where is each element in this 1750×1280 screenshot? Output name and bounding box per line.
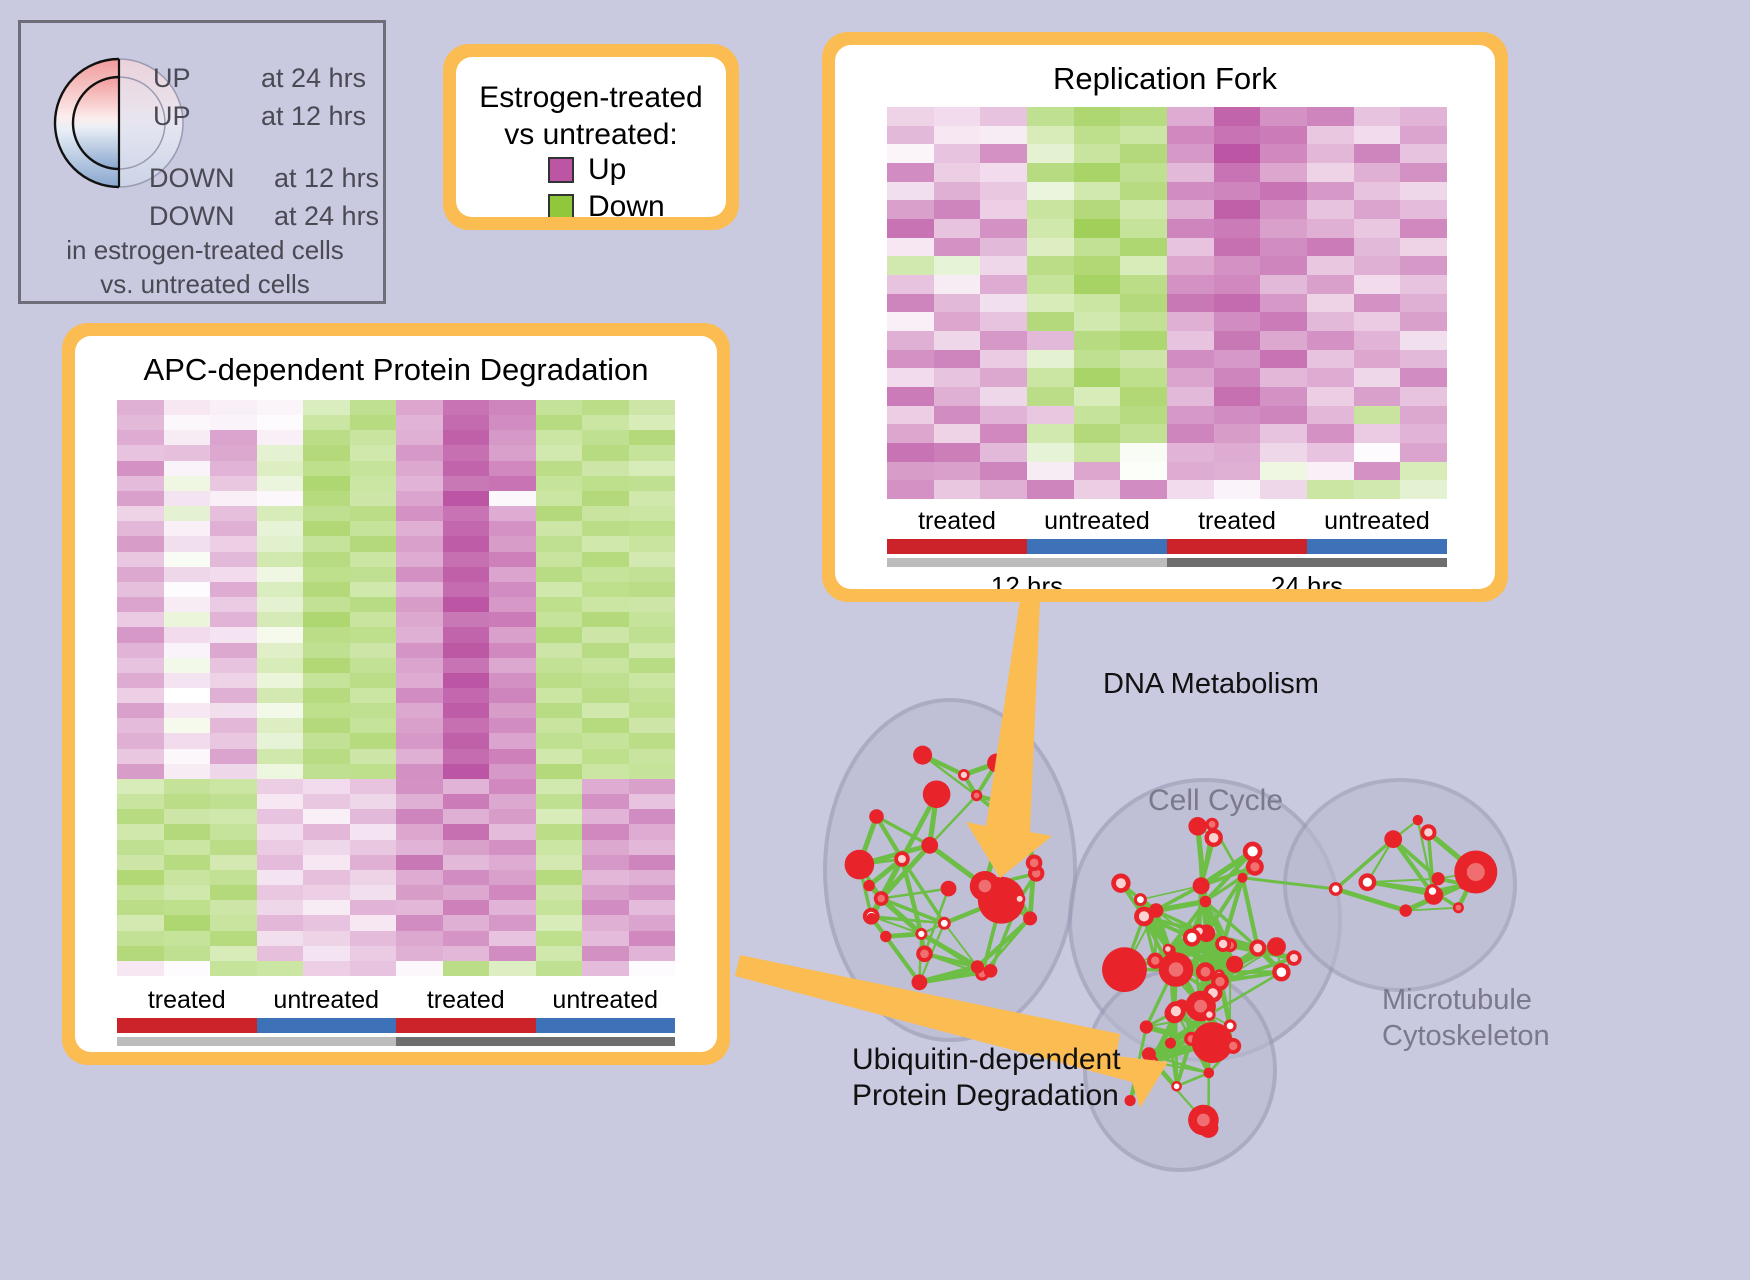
heatmap-cell (117, 567, 164, 582)
heatmap-cell (1167, 126, 1214, 145)
heatmap-cell (536, 612, 583, 627)
heatmap-cell (1074, 443, 1121, 462)
key-ring-time-up-24: at 24 hrs (261, 63, 366, 94)
heatmap-cell (536, 536, 583, 551)
heatmap-cell (1400, 219, 1447, 238)
heatmap-cell (164, 476, 211, 491)
heatmap-cell (1260, 182, 1307, 201)
heatmap-cell (489, 627, 536, 642)
heatmap-cell (980, 256, 1027, 275)
heatmap-cell (117, 506, 164, 521)
heatmap-cell (629, 567, 676, 582)
heatmap-cell (1260, 312, 1307, 331)
heatmap-cell (1307, 107, 1354, 126)
axis-group-bar (257, 1018, 397, 1033)
network-node (913, 746, 932, 765)
heatmap-cell (350, 961, 397, 976)
heatmap-cell (1027, 294, 1074, 313)
heatmap-cell (1260, 126, 1307, 145)
heatmap-cell (257, 536, 304, 551)
axis-group-label: untreated (257, 986, 397, 1015)
network-node-core (1139, 911, 1149, 921)
axis-group-bar (1027, 539, 1167, 554)
heatmap-cell (536, 900, 583, 915)
heatmap-cell (1354, 200, 1401, 219)
network-node (1193, 877, 1210, 894)
heatmap-cell (350, 870, 397, 885)
heatmap-cell (1214, 443, 1261, 462)
heatmap-cell (536, 627, 583, 642)
heatmap-cell (257, 749, 304, 764)
network-node-core (1169, 962, 1184, 977)
heatmap-cell (1354, 219, 1401, 238)
heatmap-cell (350, 506, 397, 521)
heatmap-cell (934, 480, 981, 499)
heatmap-cell (164, 673, 211, 688)
color-key-caption-line1: in estrogen-treated cells (21, 233, 389, 267)
heatmap-cell (396, 567, 443, 582)
heatmap-cell (629, 840, 676, 855)
heatmap-cell (1167, 275, 1214, 294)
heatmap-cell (350, 915, 397, 930)
axis-time-label: 12 hrs (887, 571, 1167, 589)
heatmap-cell (536, 779, 583, 794)
cluster-label-dna-metabolism: DNA Metabolism (1103, 666, 1319, 702)
heatmap-cell (489, 506, 536, 521)
heatmap-cell (536, 430, 583, 445)
legend-swatch-up (548, 157, 574, 183)
axis-time-label: 24 hrs (1167, 571, 1447, 589)
heatmap-cell (582, 946, 629, 961)
heatmap-cell (582, 643, 629, 658)
heatmap-cell (210, 506, 257, 521)
heatmap-cell (934, 443, 981, 462)
heatmap-cell (934, 144, 981, 163)
heatmap-cell (257, 885, 304, 900)
heatmap-cell (117, 673, 164, 688)
heatmap-cell (350, 733, 397, 748)
heatmap-cell (1074, 238, 1121, 257)
heatmap-cell (210, 688, 257, 703)
heatmap-cell (582, 688, 629, 703)
heatmap-cell (257, 521, 304, 536)
heatmap-cell (1400, 480, 1447, 499)
heatmap-cell (117, 643, 164, 658)
heatmap-cell (1074, 424, 1121, 443)
network-node-core (1201, 967, 1211, 977)
heatmap-cell (489, 870, 536, 885)
network-node-core (961, 772, 967, 778)
heatmap-cell (210, 552, 257, 567)
network-node-core (1456, 905, 1462, 911)
heatmap-cell (1400, 368, 1447, 387)
heatmap-cell (164, 931, 211, 946)
key-ring-label-down-12: DOWN (149, 163, 234, 194)
heatmap-cell (210, 718, 257, 733)
heatmap-cell (303, 961, 350, 976)
network-node-core (1290, 954, 1298, 962)
heatmap-cell (443, 491, 490, 506)
axis-group-label: untreated (1027, 507, 1167, 536)
heatmap-cell (934, 312, 981, 331)
heatmap-cell (303, 643, 350, 658)
heatmap-cell (164, 855, 211, 870)
heatmap-cell (1307, 182, 1354, 201)
legend-title: Estrogen-treated vs untreated: (456, 79, 726, 153)
heatmap-cell (1027, 368, 1074, 387)
network-node-core (1165, 946, 1170, 951)
heatmap-cell (536, 733, 583, 748)
axis-time-label: 12 hrs (117, 1050, 396, 1052)
heatmap-cell (350, 445, 397, 460)
heatmap-cell (980, 350, 1027, 369)
network-node-core (1187, 933, 1196, 942)
heatmap-cell (257, 461, 304, 476)
heatmap-cell (117, 764, 164, 779)
heatmap-cell (1167, 462, 1214, 481)
heatmap-cell (1214, 480, 1261, 499)
heatmap-cell (1167, 312, 1214, 331)
heatmap-cell (210, 491, 257, 506)
heatmap-cell (117, 733, 164, 748)
heatmap-cell (117, 946, 164, 961)
heatmap-cell (350, 809, 397, 824)
network-node-core (1424, 828, 1432, 836)
heatmap-cell (1074, 480, 1121, 499)
heatmap-cell (629, 703, 676, 718)
heatmap-cell (396, 627, 443, 642)
heatmap-cell (887, 256, 934, 275)
heatmap-cell (396, 400, 443, 415)
heatmap-cell (396, 415, 443, 430)
heatmap-cell (350, 779, 397, 794)
network-node (1142, 1047, 1156, 1061)
heatmap-cell (1027, 350, 1074, 369)
legend-title-line2: vs untreated: (456, 116, 726, 153)
heatmap-cell (1307, 294, 1354, 313)
heatmap-cell (164, 400, 211, 415)
heatmap-cell (887, 406, 934, 425)
heatmap-cell (582, 461, 629, 476)
heatmap-cell (629, 855, 676, 870)
heatmap-cell (350, 552, 397, 567)
heatmap-cell (1260, 219, 1307, 238)
heatmap-cell (303, 855, 350, 870)
heatmap-cell (629, 627, 676, 642)
heatmap-cell (117, 445, 164, 460)
heatmap-cell (629, 461, 676, 476)
heatmap-cell (1307, 219, 1354, 238)
heatmap-cell (1260, 163, 1307, 182)
heatmap-cell (629, 870, 676, 885)
heatmap-cell (980, 406, 1027, 425)
heatmap-cell (1120, 387, 1167, 406)
heatmap-cell (1307, 312, 1354, 331)
heatmap-cell (1027, 406, 1074, 425)
axis-group-label: untreated (1307, 507, 1447, 536)
heatmap-cell (1027, 126, 1074, 145)
heatmap-cell (489, 794, 536, 809)
heatmap-cell (582, 658, 629, 673)
heatmap-cell (1260, 406, 1307, 425)
heatmap-cell (887, 144, 934, 163)
heatmap-cell (489, 521, 536, 536)
heatmap-cell (303, 445, 350, 460)
heatmap-cell (980, 312, 1027, 331)
heatmap-cell (1354, 275, 1401, 294)
network-node (869, 809, 884, 824)
heatmap-cell (396, 552, 443, 567)
network-node-core (1209, 833, 1219, 843)
network-node (1226, 956, 1243, 973)
heatmap-cell (934, 163, 981, 182)
heatmap-cell (582, 536, 629, 551)
cluster-label-ubiquitin-protein-degradation: Ubiquitin-dependent Protein Degradation (852, 1042, 1121, 1114)
heatmap-cell (257, 824, 304, 839)
axis-group-bar (396, 1018, 536, 1033)
heatmap-cell (164, 794, 211, 809)
heatmap-cell (303, 840, 350, 855)
heatmap-cell (303, 552, 350, 567)
network-node (987, 754, 1006, 773)
heatmap-cell (257, 597, 304, 612)
legend-item-up: Up (548, 155, 626, 185)
heatmap-cell (164, 961, 211, 976)
heatmap-cell (1027, 182, 1074, 201)
heatmap-cell (257, 445, 304, 460)
heatmap-cell (257, 809, 304, 824)
heatmap-cell (303, 582, 350, 597)
heatmap-cell (443, 931, 490, 946)
heatmap-cell (887, 182, 934, 201)
heatmap-cell (1354, 480, 1401, 499)
heatmap-cell (164, 824, 211, 839)
heatmap-cell (303, 612, 350, 627)
heatmap-cell (489, 536, 536, 551)
heatmap-cell (210, 794, 257, 809)
heatmap-cell (629, 476, 676, 491)
heatmap-cell (1027, 387, 1074, 406)
heatmap-cell (536, 824, 583, 839)
heatmap-cell (257, 688, 304, 703)
axis-time-label: 24 hrs (396, 1050, 675, 1052)
heatmap-cell (1120, 107, 1167, 126)
heatmap-cell (117, 521, 164, 536)
heatmap-cell (117, 400, 164, 415)
heatmap-cell (582, 870, 629, 885)
heatmap-cell (1214, 163, 1261, 182)
legend-panel-inner: Estrogen-treated vs untreated: Up Down (456, 57, 726, 217)
heatmap-cell (303, 536, 350, 551)
heatmap-cell (887, 480, 934, 499)
heatmap-cell (396, 946, 443, 961)
heatmap-cell (443, 430, 490, 445)
network-node-core (1277, 967, 1287, 977)
heatmap-cell (582, 400, 629, 415)
heatmap-cell (489, 612, 536, 627)
heatmap-cell (303, 506, 350, 521)
replication-fork-time-bar (887, 558, 1447, 567)
heatmap-cell (934, 219, 981, 238)
heatmap-cell (1214, 275, 1261, 294)
heatmap-cell (980, 182, 1027, 201)
heatmap-cell (1400, 350, 1447, 369)
heatmap-cell (210, 824, 257, 839)
heatmap-cell (887, 107, 934, 126)
heatmap-cell (117, 627, 164, 642)
heatmap-cell (934, 462, 981, 481)
heatmap-cell (303, 900, 350, 915)
heatmap-cell (303, 718, 350, 733)
heatmap-cell (350, 749, 397, 764)
heatmap-cell (257, 415, 304, 430)
heatmap-cell (303, 415, 350, 430)
heatmap-cell (396, 749, 443, 764)
heatmap-cell (443, 915, 490, 930)
heatmap-cell (350, 400, 397, 415)
heatmap-cell (1214, 182, 1261, 201)
heatmap-cell (629, 673, 676, 688)
heatmap-cell (396, 612, 443, 627)
heatmap-cell (1027, 424, 1074, 443)
heatmap-cell (303, 931, 350, 946)
heatmap-cell (164, 445, 211, 460)
heatmap-cell (350, 491, 397, 506)
heatmap-cell (1167, 443, 1214, 462)
heatmap-cell (980, 275, 1027, 294)
heatmap-cell (1120, 331, 1167, 350)
heatmap-cell (1074, 406, 1121, 425)
heatmap-cell (1354, 406, 1401, 425)
network-node (867, 913, 877, 923)
heatmap-cell (887, 368, 934, 387)
heatmap-cell (396, 445, 443, 460)
heatmap-cell (629, 946, 676, 961)
network-node (1204, 1068, 1215, 1079)
heatmap-cell (1260, 480, 1307, 499)
heatmap-cell (582, 552, 629, 567)
heatmap-cell (257, 764, 304, 779)
heatmap-cell (1120, 126, 1167, 145)
heatmap-cell (629, 885, 676, 900)
heatmap-cell (582, 718, 629, 733)
heatmap-cell (396, 870, 443, 885)
heatmap-cell (443, 445, 490, 460)
heatmap-cell (1120, 256, 1167, 275)
heatmap-cell (536, 673, 583, 688)
heatmap-cell (582, 733, 629, 748)
legend-item-down: Down (548, 192, 665, 217)
heatmap-cell (443, 552, 490, 567)
heatmap-cell (443, 582, 490, 597)
apc-time-bar (117, 1037, 675, 1046)
axis-group-label: treated (117, 986, 257, 1015)
network-node-core (898, 855, 906, 863)
heatmap-cell (210, 627, 257, 642)
heatmap-cell (536, 415, 583, 430)
heatmap-cell (582, 673, 629, 688)
heatmap-cell (117, 809, 164, 824)
network-node-core (918, 931, 924, 937)
heatmap-cell (164, 536, 211, 551)
heatmap-cell (396, 688, 443, 703)
key-ring-label-down-24: DOWN (149, 201, 234, 232)
heatmap-cell (1400, 238, 1447, 257)
heatmap-cell (582, 764, 629, 779)
heatmap-cell (1400, 294, 1447, 313)
heatmap-cell (1027, 275, 1074, 294)
heatmap-cell (536, 476, 583, 491)
heatmap-cell (1354, 294, 1401, 313)
heatmap-cell (1027, 480, 1074, 499)
heatmap-cell (1027, 200, 1074, 219)
heatmap-cell (536, 552, 583, 567)
heatmap-cell (303, 476, 350, 491)
heatmap-cell (1400, 462, 1447, 481)
heatmap-cell (117, 855, 164, 870)
heatmap-cell (887, 275, 934, 294)
heatmap-cell (1120, 200, 1167, 219)
network-node-core (941, 920, 948, 927)
heatmap-cell (117, 597, 164, 612)
heatmap-cell (1074, 387, 1121, 406)
heatmap-cell (536, 840, 583, 855)
heatmap-cell (1354, 238, 1401, 257)
heatmap-cell (117, 915, 164, 930)
network-node (912, 974, 928, 990)
network-node-core (1116, 878, 1126, 888)
heatmap-cell (210, 946, 257, 961)
heatmap-cell (210, 521, 257, 536)
heatmap-cell (887, 424, 934, 443)
heatmap-cell (1167, 387, 1214, 406)
replication-fork-group-labels: treateduntreatedtreateduntreated (887, 507, 1447, 536)
heatmap-cell (1260, 294, 1307, 313)
heatmap-cell (980, 126, 1027, 145)
network-node-core (1151, 957, 1159, 965)
heatmap-cell (257, 506, 304, 521)
apc-panel: APC-dependent Protein Degradation treate… (62, 323, 730, 1065)
heatmap-cell (257, 658, 304, 673)
heatmap-cell (396, 430, 443, 445)
heatmap-cell (887, 350, 934, 369)
heatmap-cell (980, 480, 1027, 499)
heatmap-cell (443, 703, 490, 718)
heatmap-cell (164, 733, 211, 748)
heatmap-cell (350, 703, 397, 718)
heatmap-cell (303, 597, 350, 612)
heatmap-cell (536, 809, 583, 824)
heatmap-cell (443, 809, 490, 824)
heatmap-cell (303, 946, 350, 961)
legend-label-up: Up (588, 155, 626, 185)
heatmap-cell (396, 961, 443, 976)
heatmap-cell (210, 900, 257, 915)
heatmap-cell (396, 733, 443, 748)
heatmap-cell (887, 387, 934, 406)
heatmap-cell (934, 406, 981, 425)
heatmap-cell (1167, 368, 1214, 387)
heatmap-cell (164, 643, 211, 658)
heatmap-cell (536, 658, 583, 673)
network-node-core (1467, 863, 1485, 881)
heatmap-cell (396, 597, 443, 612)
heatmap-cell (1307, 200, 1354, 219)
heatmap-cell (887, 238, 934, 257)
heatmap-cell (164, 779, 211, 794)
heatmap-cell (887, 126, 934, 145)
network-node (1384, 830, 1402, 848)
